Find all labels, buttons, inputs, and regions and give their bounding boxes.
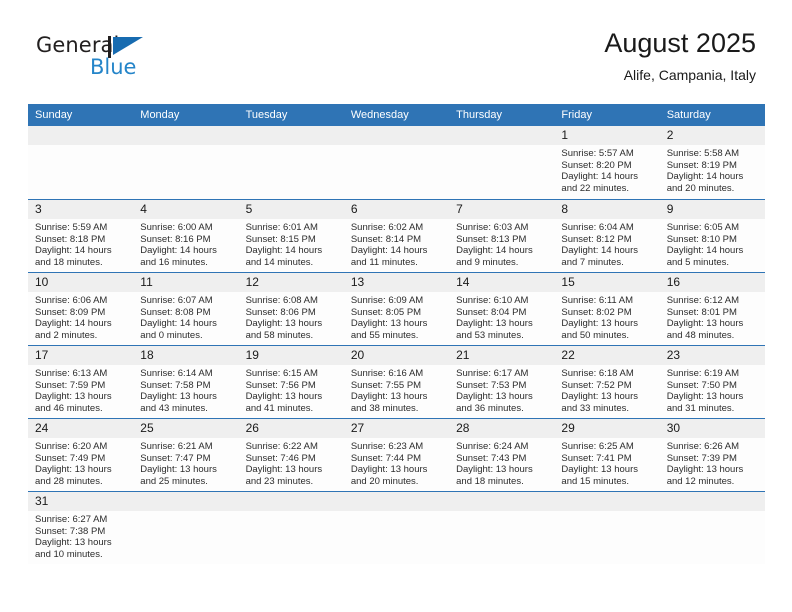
calendar-day-cell[interactable]: 21Sunrise: 6:17 AMSunset: 7:53 PMDayligh… <box>449 345 554 418</box>
day-detail-line: and 20 minutes. <box>667 183 759 195</box>
day-detail-line: Sunrise: 6:08 AM <box>246 295 338 307</box>
day-detail-line: Daylight: 13 hours <box>456 318 548 330</box>
day-number: 26 <box>239 419 344 438</box>
day-number: 23 <box>660 346 765 365</box>
day-cell-inner: 12Sunrise: 6:08 AMSunset: 8:06 PMDayligh… <box>239 272 344 345</box>
day-number-band: 8 <box>554 200 659 219</box>
day-detail-line: Sunrise: 6:21 AM <box>140 441 232 453</box>
calendar-day-cell[interactable]: 26Sunrise: 6:22 AMSunset: 7:46 PMDayligh… <box>239 418 344 491</box>
day-detail-line: Sunset: 7:46 PM <box>246 453 338 465</box>
day-sun-details: Sunrise: 6:04 AMSunset: 8:12 PMDaylight:… <box>554 219 659 268</box>
day-cell-inner <box>344 491 449 564</box>
day-number: 12 <box>239 273 344 292</box>
day-cell-inner: 2Sunrise: 5:58 AMSunset: 8:19 PMDaylight… <box>660 126 765 199</box>
day-number: 18 <box>133 346 238 365</box>
calendar-week-row: 31Sunrise: 6:27 AMSunset: 7:38 PMDayligh… <box>28 491 765 564</box>
day-sun-details: Sunrise: 6:22 AMSunset: 7:46 PMDaylight:… <box>239 438 344 487</box>
day-detail-line: Sunrise: 5:57 AM <box>561 148 653 160</box>
day-number: 30 <box>660 419 765 438</box>
day-cell-inner: 14Sunrise: 6:10 AMSunset: 8:04 PMDayligh… <box>449 272 554 345</box>
day-sun-details <box>449 511 554 514</box>
weekday-header-monday: Monday <box>133 104 238 126</box>
day-sun-details: Sunrise: 6:07 AMSunset: 8:08 PMDaylight:… <box>133 292 238 341</box>
calendar-day-cell-empty <box>449 491 554 564</box>
day-detail-line: and 9 minutes. <box>456 257 548 269</box>
day-number-band: 31 <box>28 492 133 511</box>
day-cell-inner: 21Sunrise: 6:17 AMSunset: 7:53 PMDayligh… <box>449 345 554 418</box>
day-detail-line: and 53 minutes. <box>456 330 548 342</box>
calendar-day-cell[interactable]: 7Sunrise: 6:03 AMSunset: 8:13 PMDaylight… <box>449 199 554 272</box>
day-detail-line: Sunrise: 6:11 AM <box>561 295 653 307</box>
day-detail-line: Sunrise: 6:09 AM <box>351 295 443 307</box>
day-sun-details <box>554 511 659 514</box>
day-detail-line: Daylight: 13 hours <box>456 464 548 476</box>
day-detail-line: Daylight: 14 hours <box>456 245 548 257</box>
day-cell-inner: 19Sunrise: 6:15 AMSunset: 7:56 PMDayligh… <box>239 345 344 418</box>
calendar-day-cell[interactable]: 17Sunrise: 6:13 AMSunset: 7:59 PMDayligh… <box>28 345 133 418</box>
day-number: 31 <box>28 492 133 511</box>
day-number-band: 11 <box>133 273 238 292</box>
day-sun-details <box>239 511 344 514</box>
day-sun-details: Sunrise: 6:25 AMSunset: 7:41 PMDaylight:… <box>554 438 659 487</box>
day-detail-line: and 58 minutes. <box>246 330 338 342</box>
day-sun-details: Sunrise: 6:11 AMSunset: 8:02 PMDaylight:… <box>554 292 659 341</box>
day-detail-line: Sunset: 8:15 PM <box>246 234 338 246</box>
day-cell-inner: 11Sunrise: 6:07 AMSunset: 8:08 PMDayligh… <box>133 272 238 345</box>
day-detail-line: Sunset: 8:16 PM <box>140 234 232 246</box>
day-number-band: 25 <box>133 419 238 438</box>
day-cell-inner: 18Sunrise: 6:14 AMSunset: 7:58 PMDayligh… <box>133 345 238 418</box>
day-detail-line: Sunset: 8:04 PM <box>456 307 548 319</box>
weekday-header-saturday: Saturday <box>660 104 765 126</box>
day-cell-inner: 23Sunrise: 6:19 AMSunset: 7:50 PMDayligh… <box>660 345 765 418</box>
day-cell-inner: 26Sunrise: 6:22 AMSunset: 7:46 PMDayligh… <box>239 418 344 491</box>
calendar-day-cell[interactable]: 20Sunrise: 6:16 AMSunset: 7:55 PMDayligh… <box>344 345 449 418</box>
day-sun-details: Sunrise: 6:05 AMSunset: 8:10 PMDaylight:… <box>660 219 765 268</box>
day-number-band: 2 <box>660 126 765 145</box>
day-detail-line: Daylight: 13 hours <box>667 464 759 476</box>
day-detail-line: and 28 minutes. <box>35 476 127 488</box>
calendar-day-cell[interactable]: 22Sunrise: 6:18 AMSunset: 7:52 PMDayligh… <box>554 345 659 418</box>
calendar-day-cell[interactable]: 14Sunrise: 6:10 AMSunset: 8:04 PMDayligh… <box>449 272 554 345</box>
day-cell-inner: 6Sunrise: 6:02 AMSunset: 8:14 PMDaylight… <box>344 199 449 272</box>
day-detail-line: Sunrise: 6:20 AM <box>35 441 127 453</box>
day-detail-line: Sunset: 7:55 PM <box>351 380 443 392</box>
day-detail-line: Sunset: 7:56 PM <box>246 380 338 392</box>
day-sun-details: Sunrise: 6:23 AMSunset: 7:44 PMDaylight:… <box>344 438 449 487</box>
day-cell-inner: 1Sunrise: 5:57 AMSunset: 8:20 PMDaylight… <box>554 126 659 199</box>
day-number-band: 16 <box>660 273 765 292</box>
day-number-band: 23 <box>660 346 765 365</box>
day-detail-line: Sunrise: 6:00 AM <box>140 222 232 234</box>
day-cell-inner: 13Sunrise: 6:09 AMSunset: 8:05 PMDayligh… <box>344 272 449 345</box>
day-detail-line: Sunrise: 6:06 AM <box>35 295 127 307</box>
calendar-day-cell[interactable]: 24Sunrise: 6:20 AMSunset: 7:49 PMDayligh… <box>28 418 133 491</box>
day-number: 3 <box>28 200 133 219</box>
day-detail-line: Sunset: 8:20 PM <box>561 160 653 172</box>
calendar-day-cell[interactable]: 18Sunrise: 6:14 AMSunset: 7:58 PMDayligh… <box>133 345 238 418</box>
day-sun-details <box>660 511 765 514</box>
day-detail-line: Sunset: 7:52 PM <box>561 380 653 392</box>
day-cell-inner: 25Sunrise: 6:21 AMSunset: 7:47 PMDayligh… <box>133 418 238 491</box>
calendar-day-cell[interactable]: 5Sunrise: 6:01 AMSunset: 8:15 PMDaylight… <box>239 199 344 272</box>
calendar-day-cell[interactable]: 19Sunrise: 6:15 AMSunset: 7:56 PMDayligh… <box>239 345 344 418</box>
day-number-band: 10 <box>28 273 133 292</box>
day-detail-line: Daylight: 13 hours <box>561 464 653 476</box>
calendar-day-cell[interactable]: 31Sunrise: 6:27 AMSunset: 7:38 PMDayligh… <box>28 491 133 564</box>
day-sun-details: Sunrise: 6:02 AMSunset: 8:14 PMDaylight:… <box>344 219 449 268</box>
day-detail-line: Sunrise: 6:12 AM <box>667 295 759 307</box>
day-number-band: 17 <box>28 346 133 365</box>
day-sun-details: Sunrise: 6:06 AMSunset: 8:09 PMDaylight:… <box>28 292 133 341</box>
day-detail-line: Sunrise: 6:18 AM <box>561 368 653 380</box>
day-cell-inner <box>239 126 344 199</box>
day-detail-line: and 18 minutes. <box>456 476 548 488</box>
weekday-header-wednesday: Wednesday <box>344 104 449 126</box>
calendar-day-cell[interactable]: 1Sunrise: 5:57 AMSunset: 8:20 PMDaylight… <box>554 126 659 199</box>
calendar-week-row: 1Sunrise: 5:57 AMSunset: 8:20 PMDaylight… <box>28 126 765 199</box>
calendar-day-cell[interactable]: 2Sunrise: 5:58 AMSunset: 8:19 PMDaylight… <box>660 126 765 199</box>
day-sun-details: Sunrise: 6:26 AMSunset: 7:39 PMDaylight:… <box>660 438 765 487</box>
calendar-day-cell[interactable]: 9Sunrise: 6:05 AMSunset: 8:10 PMDaylight… <box>660 199 765 272</box>
day-number-band: 18 <box>133 346 238 365</box>
day-sun-details: Sunrise: 6:01 AMSunset: 8:15 PMDaylight:… <box>239 219 344 268</box>
day-number: 9 <box>660 200 765 219</box>
day-cell-inner: 24Sunrise: 6:20 AMSunset: 7:49 PMDayligh… <box>28 418 133 491</box>
day-sun-details: Sunrise: 6:14 AMSunset: 7:58 PMDaylight:… <box>133 365 238 414</box>
day-detail-line: Sunrise: 6:10 AM <box>456 295 548 307</box>
day-detail-line: Sunrise: 6:27 AM <box>35 514 127 526</box>
day-cell-inner: 15Sunrise: 6:11 AMSunset: 8:02 PMDayligh… <box>554 272 659 345</box>
day-detail-line: Sunrise: 6:17 AM <box>456 368 548 380</box>
day-detail-line: and 2 minutes. <box>35 330 127 342</box>
day-detail-line: Daylight: 14 hours <box>667 245 759 257</box>
day-number-band: 4 <box>133 200 238 219</box>
calendar-day-cell[interactable]: 6Sunrise: 6:02 AMSunset: 8:14 PMDaylight… <box>344 199 449 272</box>
day-cell-inner <box>133 491 238 564</box>
calendar-day-cell-empty <box>449 126 554 199</box>
day-detail-line: and 33 minutes. <box>561 403 653 415</box>
calendar-day-cell[interactable]: 29Sunrise: 6:25 AMSunset: 7:41 PMDayligh… <box>554 418 659 491</box>
day-detail-line: Daylight: 13 hours <box>561 391 653 403</box>
day-sun-details: Sunrise: 6:08 AMSunset: 8:06 PMDaylight:… <box>239 292 344 341</box>
day-cell-inner: 29Sunrise: 6:25 AMSunset: 7:41 PMDayligh… <box>554 418 659 491</box>
day-detail-line: Sunrise: 6:16 AM <box>351 368 443 380</box>
day-detail-line: Daylight: 13 hours <box>246 391 338 403</box>
day-number: 17 <box>28 346 133 365</box>
calendar-day-cell[interactable]: 12Sunrise: 6:08 AMSunset: 8:06 PMDayligh… <box>239 272 344 345</box>
day-detail-line: and 48 minutes. <box>667 330 759 342</box>
day-detail-line: Sunset: 7:39 PM <box>667 453 759 465</box>
brand-logo[interactable]: General Blue <box>36 33 216 85</box>
day-number: 27 <box>344 419 449 438</box>
day-detail-line: Daylight: 13 hours <box>351 391 443 403</box>
calendar-day-cell[interactable]: 23Sunrise: 6:19 AMSunset: 7:50 PMDayligh… <box>660 345 765 418</box>
day-detail-line: Sunrise: 6:25 AM <box>561 441 653 453</box>
brand-name-general: General <box>36 33 119 57</box>
day-detail-line: Sunset: 8:13 PM <box>456 234 548 246</box>
day-number-band <box>344 492 449 511</box>
day-detail-line: Sunset: 7:53 PM <box>456 380 548 392</box>
day-number: 19 <box>239 346 344 365</box>
day-cell-inner <box>344 126 449 199</box>
day-number-band: 9 <box>660 200 765 219</box>
day-sun-details: Sunrise: 5:58 AMSunset: 8:19 PMDaylight:… <box>660 145 765 194</box>
day-number-band: 30 <box>660 419 765 438</box>
day-number: 15 <box>554 273 659 292</box>
calendar-week-row: 17Sunrise: 6:13 AMSunset: 7:59 PMDayligh… <box>28 345 765 418</box>
day-detail-line: and 0 minutes. <box>140 330 232 342</box>
day-detail-line: Sunset: 7:43 PM <box>456 453 548 465</box>
day-cell-inner: 27Sunrise: 6:23 AMSunset: 7:44 PMDayligh… <box>344 418 449 491</box>
day-detail-line: Sunrise: 6:24 AM <box>456 441 548 453</box>
day-detail-line: Sunset: 8:09 PM <box>35 307 127 319</box>
day-detail-line: Daylight: 14 hours <box>35 245 127 257</box>
day-detail-line: Daylight: 13 hours <box>35 537 127 549</box>
weekday-header-friday: Friday <box>554 104 659 126</box>
day-detail-line: and 12 minutes. <box>667 476 759 488</box>
day-detail-line: Daylight: 14 hours <box>246 245 338 257</box>
calendar-day-cell-empty <box>28 126 133 199</box>
day-detail-line: and 14 minutes. <box>246 257 338 269</box>
day-detail-line: and 18 minutes. <box>35 257 127 269</box>
day-number: 5 <box>239 200 344 219</box>
calendar-day-cell-empty <box>344 126 449 199</box>
day-number-band: 13 <box>344 273 449 292</box>
calendar-page: General Blue August 2025 Alife, Campania… <box>0 0 792 612</box>
day-sun-details: Sunrise: 6:15 AMSunset: 7:56 PMDaylight:… <box>239 365 344 414</box>
day-detail-line: Daylight: 14 hours <box>35 318 127 330</box>
calendar-week-row: 3Sunrise: 5:59 AMSunset: 8:18 PMDaylight… <box>28 199 765 272</box>
day-sun-details: Sunrise: 6:16 AMSunset: 7:55 PMDaylight:… <box>344 365 449 414</box>
day-detail-line: and 11 minutes. <box>351 257 443 269</box>
calendar-week-row: 10Sunrise: 6:06 AMSunset: 8:09 PMDayligh… <box>28 272 765 345</box>
day-detail-line: Daylight: 14 hours <box>140 245 232 257</box>
day-detail-line: Daylight: 13 hours <box>140 391 232 403</box>
day-number-band <box>133 126 238 145</box>
day-sun-details: Sunrise: 6:12 AMSunset: 8:01 PMDaylight:… <box>660 292 765 341</box>
calendar-day-cell[interactable]: 25Sunrise: 6:21 AMSunset: 7:47 PMDayligh… <box>133 418 238 491</box>
day-detail-line: Sunset: 8:10 PM <box>667 234 759 246</box>
day-number: 24 <box>28 419 133 438</box>
day-cell-inner: 31Sunrise: 6:27 AMSunset: 7:38 PMDayligh… <box>28 491 133 564</box>
page-header: General Blue August 2025 Alife, Campania… <box>0 0 792 100</box>
day-number: 16 <box>660 273 765 292</box>
day-detail-line: Daylight: 13 hours <box>667 391 759 403</box>
day-sun-details: Sunrise: 6:27 AMSunset: 7:38 PMDaylight:… <box>28 511 133 560</box>
day-detail-line: Sunrise: 6:19 AM <box>667 368 759 380</box>
day-number: 25 <box>133 419 238 438</box>
calendar-day-cell[interactable]: 13Sunrise: 6:09 AMSunset: 8:05 PMDayligh… <box>344 272 449 345</box>
day-detail-line: Daylight: 13 hours <box>351 464 443 476</box>
calendar-day-cell[interactable]: 30Sunrise: 6:26 AMSunset: 7:39 PMDayligh… <box>660 418 765 491</box>
day-sun-details <box>28 145 133 148</box>
day-detail-line: Sunset: 8:14 PM <box>351 234 443 246</box>
day-sun-details: Sunrise: 6:03 AMSunset: 8:13 PMDaylight:… <box>449 219 554 268</box>
day-number: 11 <box>133 273 238 292</box>
day-cell-inner: 22Sunrise: 6:18 AMSunset: 7:52 PMDayligh… <box>554 345 659 418</box>
day-detail-line: Daylight: 13 hours <box>667 318 759 330</box>
day-sun-details: Sunrise: 6:00 AMSunset: 8:16 PMDaylight:… <box>133 219 238 268</box>
day-detail-line: Sunrise: 6:15 AM <box>246 368 338 380</box>
day-number-band: 22 <box>554 346 659 365</box>
day-cell-inner <box>449 126 554 199</box>
calendar-day-cell[interactable]: 28Sunrise: 6:24 AMSunset: 7:43 PMDayligh… <box>449 418 554 491</box>
day-number: 13 <box>344 273 449 292</box>
day-detail-line: Sunrise: 6:13 AM <box>35 368 127 380</box>
day-cell-inner: 5Sunrise: 6:01 AMSunset: 8:15 PMDaylight… <box>239 199 344 272</box>
day-detail-line: and 36 minutes. <box>456 403 548 415</box>
day-detail-line: Sunrise: 6:07 AM <box>140 295 232 307</box>
day-number-band: 27 <box>344 419 449 438</box>
day-sun-details <box>344 145 449 148</box>
day-number-band <box>239 126 344 145</box>
day-cell-inner <box>449 491 554 564</box>
brand-name-blue: Blue <box>90 55 136 79</box>
weekday-header-tuesday: Tuesday <box>239 104 344 126</box>
day-detail-line: and 10 minutes. <box>35 549 127 561</box>
day-detail-line: Daylight: 13 hours <box>561 318 653 330</box>
calendar-day-cell[interactable]: 15Sunrise: 6:11 AMSunset: 8:02 PMDayligh… <box>554 272 659 345</box>
day-cell-inner <box>28 126 133 199</box>
day-detail-line: and 5 minutes. <box>667 257 759 269</box>
day-sun-details: Sunrise: 6:09 AMSunset: 8:05 PMDaylight:… <box>344 292 449 341</box>
day-detail-line: Sunset: 7:59 PM <box>35 380 127 392</box>
day-detail-line: Sunrise: 6:22 AM <box>246 441 338 453</box>
day-detail-line: and 20 minutes. <box>351 476 443 488</box>
day-detail-line: Sunset: 8:02 PM <box>561 307 653 319</box>
day-detail-line: Sunrise: 6:05 AM <box>667 222 759 234</box>
day-number-band: 21 <box>449 346 554 365</box>
day-number-band <box>239 492 344 511</box>
day-sun-details <box>133 145 238 148</box>
day-sun-details: Sunrise: 6:19 AMSunset: 7:50 PMDaylight:… <box>660 365 765 414</box>
day-number-band: 6 <box>344 200 449 219</box>
calendar-week-row: 24Sunrise: 6:20 AMSunset: 7:49 PMDayligh… <box>28 418 765 491</box>
calendar-day-cell-empty <box>239 491 344 564</box>
day-detail-line: Sunrise: 6:03 AM <box>456 222 548 234</box>
calendar-day-cell-empty <box>344 491 449 564</box>
day-number-band <box>660 492 765 511</box>
day-sun-details: Sunrise: 6:24 AMSunset: 7:43 PMDaylight:… <box>449 438 554 487</box>
day-number-band: 1 <box>554 126 659 145</box>
calendar-day-cell[interactable]: 10Sunrise: 6:06 AMSunset: 8:09 PMDayligh… <box>28 272 133 345</box>
day-detail-line: Sunrise: 5:59 AM <box>35 222 127 234</box>
day-cell-inner: 20Sunrise: 6:16 AMSunset: 7:55 PMDayligh… <box>344 345 449 418</box>
day-detail-line: Sunrise: 5:58 AM <box>667 148 759 160</box>
day-cell-inner <box>660 491 765 564</box>
day-detail-line: and 46 minutes. <box>35 403 127 415</box>
day-detail-line: and 22 minutes. <box>561 183 653 195</box>
day-detail-line: Sunset: 8:05 PM <box>351 307 443 319</box>
day-detail-line: Sunset: 7:58 PM <box>140 380 232 392</box>
day-cell-inner: 3Sunrise: 5:59 AMSunset: 8:18 PMDaylight… <box>28 199 133 272</box>
day-detail-line: and 43 minutes. <box>140 403 232 415</box>
day-detail-line: Sunrise: 6:02 AM <box>351 222 443 234</box>
calendar-day-cell[interactable]: 3Sunrise: 5:59 AMSunset: 8:18 PMDaylight… <box>28 199 133 272</box>
day-detail-line: and 23 minutes. <box>246 476 338 488</box>
day-number: 21 <box>449 346 554 365</box>
page-title: August 2025 <box>604 26 756 60</box>
day-number: 1 <box>554 126 659 145</box>
day-detail-line: and 38 minutes. <box>351 403 443 415</box>
weekday-header-sunday: Sunday <box>28 104 133 126</box>
day-number-band: 7 <box>449 200 554 219</box>
day-number-band: 3 <box>28 200 133 219</box>
day-detail-line: Sunset: 7:38 PM <box>35 526 127 538</box>
day-detail-line: and 15 minutes. <box>561 476 653 488</box>
day-detail-line: and 55 minutes. <box>351 330 443 342</box>
day-cell-inner: 9Sunrise: 6:05 AMSunset: 8:10 PMDaylight… <box>660 199 765 272</box>
day-sun-details: Sunrise: 5:59 AMSunset: 8:18 PMDaylight:… <box>28 219 133 268</box>
day-detail-line: Daylight: 14 hours <box>140 318 232 330</box>
day-number: 10 <box>28 273 133 292</box>
day-number-band: 19 <box>239 346 344 365</box>
day-number-band: 20 <box>344 346 449 365</box>
day-sun-details: Sunrise: 6:18 AMSunset: 7:52 PMDaylight:… <box>554 365 659 414</box>
day-number: 29 <box>554 419 659 438</box>
day-detail-line: and 25 minutes. <box>140 476 232 488</box>
day-detail-line: Sunrise: 6:23 AM <box>351 441 443 453</box>
day-detail-line: Sunset: 8:01 PM <box>667 307 759 319</box>
day-detail-line: Daylight: 13 hours <box>246 464 338 476</box>
calendar-day-cell-empty <box>554 491 659 564</box>
calendar-header-row: SundayMondayTuesdayWednesdayThursdayFrid… <box>28 104 765 126</box>
day-detail-line: Daylight: 14 hours <box>667 171 759 183</box>
day-detail-line: and 16 minutes. <box>140 257 232 269</box>
day-detail-line: Daylight: 13 hours <box>35 391 127 403</box>
day-detail-line: and 41 minutes. <box>246 403 338 415</box>
day-detail-line: Daylight: 14 hours <box>561 171 653 183</box>
day-number: 7 <box>449 200 554 219</box>
day-number-band: 14 <box>449 273 554 292</box>
day-number-band: 15 <box>554 273 659 292</box>
calendar-day-cell-empty <box>239 126 344 199</box>
day-cell-inner: 16Sunrise: 6:12 AMSunset: 8:01 PMDayligh… <box>660 272 765 345</box>
day-number-band <box>449 492 554 511</box>
day-detail-line: Daylight: 13 hours <box>246 318 338 330</box>
day-detail-line: Sunrise: 6:01 AM <box>246 222 338 234</box>
day-number-band: 29 <box>554 419 659 438</box>
calendar-day-cell[interactable]: 4Sunrise: 6:00 AMSunset: 8:16 PMDaylight… <box>133 199 238 272</box>
day-detail-line: Sunrise: 6:26 AM <box>667 441 759 453</box>
calendar-day-cell-empty <box>660 491 765 564</box>
day-detail-line: Daylight: 13 hours <box>35 464 127 476</box>
calendar-day-cell[interactable]: 27Sunrise: 6:23 AMSunset: 7:44 PMDayligh… <box>344 418 449 491</box>
day-detail-line: Sunset: 8:19 PM <box>667 160 759 172</box>
day-detail-line: Daylight: 13 hours <box>456 391 548 403</box>
day-cell-inner: 10Sunrise: 6:06 AMSunset: 8:09 PMDayligh… <box>28 272 133 345</box>
calendar-day-cell[interactable]: 11Sunrise: 6:07 AMSunset: 8:08 PMDayligh… <box>133 272 238 345</box>
day-detail-line: Sunset: 7:50 PM <box>667 380 759 392</box>
day-number-band <box>133 492 238 511</box>
day-sun-details: Sunrise: 6:10 AMSunset: 8:04 PMDaylight:… <box>449 292 554 341</box>
day-cell-inner: 17Sunrise: 6:13 AMSunset: 7:59 PMDayligh… <box>28 345 133 418</box>
page-subtitle: Alife, Campania, Italy <box>604 64 756 86</box>
day-detail-line: Sunset: 8:18 PM <box>35 234 127 246</box>
day-sun-details: Sunrise: 6:20 AMSunset: 7:49 PMDaylight:… <box>28 438 133 487</box>
day-detail-line: Daylight: 14 hours <box>351 245 443 257</box>
blue-flag-triangle-icon <box>113 37 143 55</box>
calendar-day-cell[interactable]: 8Sunrise: 6:04 AMSunset: 8:12 PMDaylight… <box>554 199 659 272</box>
day-number-band <box>344 126 449 145</box>
calendar-day-cell[interactable]: 16Sunrise: 6:12 AMSunset: 8:01 PMDayligh… <box>660 272 765 345</box>
day-detail-line: Sunset: 7:41 PM <box>561 453 653 465</box>
day-cell-inner: 4Sunrise: 6:00 AMSunset: 8:16 PMDaylight… <box>133 199 238 272</box>
day-cell-inner: 8Sunrise: 6:04 AMSunset: 8:12 PMDaylight… <box>554 199 659 272</box>
day-detail-line: Sunset: 8:12 PM <box>561 234 653 246</box>
day-number: 28 <box>449 419 554 438</box>
